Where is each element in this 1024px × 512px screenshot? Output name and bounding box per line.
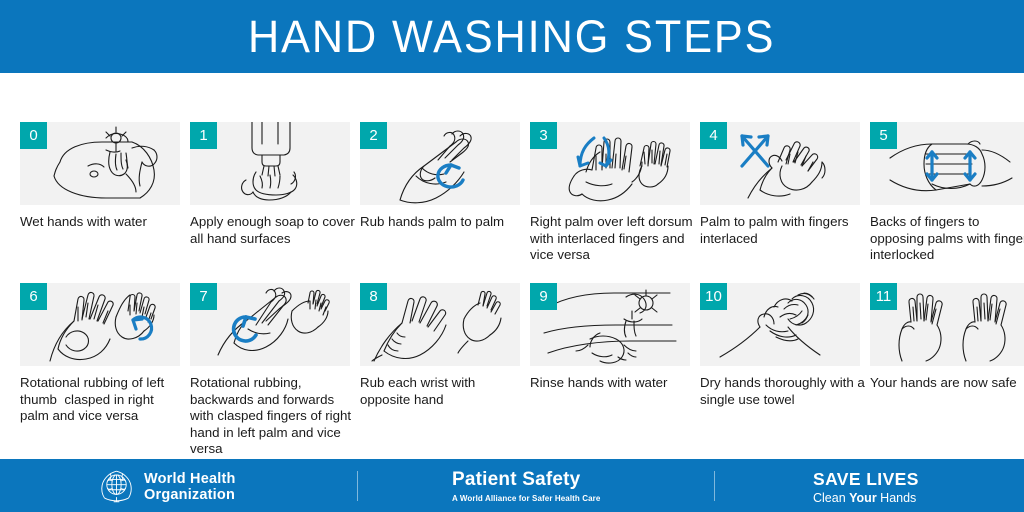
step-illustration-panel: 0 bbox=[20, 122, 180, 205]
save-lives-logo: SAVE LIVES Clean Your Hands bbox=[813, 469, 919, 505]
poster-header: HAND WASHING STEPS bbox=[0, 0, 1024, 73]
step-card-0[interactable]: 0 bbox=[20, 122, 180, 264]
step-card-1[interactable]: 1 bbox=[190, 122, 350, 264]
step-card-5[interactable]: 5 bbox=[870, 122, 1024, 264]
step-number-badge: 5 bbox=[870, 122, 897, 149]
step-caption: Dry hands thoroughly with a single use t… bbox=[700, 375, 866, 408]
step-card-9[interactable]: 9 bbox=[530, 283, 690, 458]
step-card-3[interactable]: 3 bbox=[530, 122, 690, 264]
step-card-8[interactable]: 8 bbox=[360, 283, 520, 458]
step-illustration-panel: 9 bbox=[530, 283, 690, 366]
step-caption: Palm to palm with fingers interlaced bbox=[700, 214, 866, 247]
step-caption: Rinse hands with water bbox=[530, 375, 696, 392]
step-illustration-panel: 4 bbox=[700, 122, 860, 205]
step-caption: Your hands are now safe bbox=[870, 375, 1024, 392]
step-card-6[interactable]: 6 bbox=[20, 283, 180, 458]
step-number-badge: 8 bbox=[360, 283, 387, 310]
footer-divider-right bbox=[714, 471, 715, 501]
save-lives-subtitle: Clean Your Hands bbox=[813, 491, 919, 505]
step-number-badge: 7 bbox=[190, 283, 217, 310]
step-caption: Right palm over left dorsum with interla… bbox=[530, 214, 696, 264]
who-line-2: Organization bbox=[144, 487, 236, 503]
hand-washing-poster: HAND WASHING STEPS 0 bbox=[0, 0, 1024, 512]
patient-safety-subtitle: A World Alliance for Safer Health Care bbox=[452, 494, 600, 503]
step-number-badge: 9 bbox=[530, 283, 557, 310]
step-caption: Wet hands with water bbox=[20, 214, 186, 231]
step-illustration-panel: 7 bbox=[190, 283, 350, 366]
step-illustration-panel: 6 bbox=[20, 283, 180, 366]
step-caption: Rotational rubbing, backwards and forwar… bbox=[190, 375, 356, 458]
who-logo: World Health Organization bbox=[98, 468, 236, 505]
step-illustration-panel: 3 bbox=[530, 122, 690, 205]
steps-row-1: 0 bbox=[20, 122, 1004, 264]
step-card-4[interactable]: 4 bbox=[700, 122, 860, 264]
step-illustration-panel: 2 bbox=[360, 122, 520, 205]
step-number-badge: 10 bbox=[700, 283, 727, 310]
steps-row-2: 6 bbox=[20, 283, 1024, 458]
step-illustration-panel: 1 bbox=[190, 122, 350, 205]
step-caption: Rub each wrist with opposite hand bbox=[360, 375, 526, 408]
step-number-badge: 6 bbox=[20, 283, 47, 310]
step-card-10[interactable]: 10 bbox=[700, 283, 860, 458]
step-illustration-panel: 10 bbox=[700, 283, 860, 366]
save-lives-title: SAVE LIVES bbox=[813, 469, 919, 489]
step-card-7[interactable]: 7 bbox=[190, 283, 350, 458]
footer-divider-left bbox=[357, 471, 358, 501]
step-number-badge: 1 bbox=[190, 122, 217, 149]
save-lives-sub-post: Hands bbox=[877, 491, 917, 505]
step-caption: Backs of fingers to opposing palms with … bbox=[870, 214, 1024, 264]
who-logo-text: World Health Organization bbox=[144, 471, 236, 503]
patient-safety-title: Patient Safety bbox=[452, 469, 600, 491]
step-number-badge: 11 bbox=[870, 283, 897, 310]
save-lives-sub-bold: Your bbox=[849, 491, 877, 505]
step-illustration-panel: 5 bbox=[870, 122, 1024, 205]
step-illustration-panel: 8 bbox=[360, 283, 520, 366]
steps-grid: 0 bbox=[20, 122, 1004, 264]
step-caption: Rotational rubbing of left thumb clasped… bbox=[20, 375, 186, 425]
step-caption: Apply enough soap to cover all hand surf… bbox=[190, 214, 356, 247]
patient-safety-logo: Patient Safety A World Alliance for Safe… bbox=[452, 469, 600, 503]
step-number-badge: 3 bbox=[530, 122, 557, 149]
page-title: HAND WASHING STEPS bbox=[248, 14, 775, 59]
who-line-1: World Health bbox=[144, 471, 236, 487]
who-un-globe-laurel-emblem bbox=[98, 468, 135, 505]
step-card-11[interactable]: 11 bbox=[870, 283, 1024, 458]
step-caption: Rub hands palm to palm bbox=[360, 214, 526, 231]
poster-footer: World Health Organization Patient Safety… bbox=[0, 459, 1024, 512]
step-number-badge: 2 bbox=[360, 122, 387, 149]
step-illustration-panel: 11 bbox=[870, 283, 1024, 366]
step-card-2[interactable]: 2 bbox=[360, 122, 520, 264]
step-number-badge: 0 bbox=[20, 122, 47, 149]
save-lives-sub-pre: Clean bbox=[813, 491, 849, 505]
step-number-badge: 4 bbox=[700, 122, 727, 149]
